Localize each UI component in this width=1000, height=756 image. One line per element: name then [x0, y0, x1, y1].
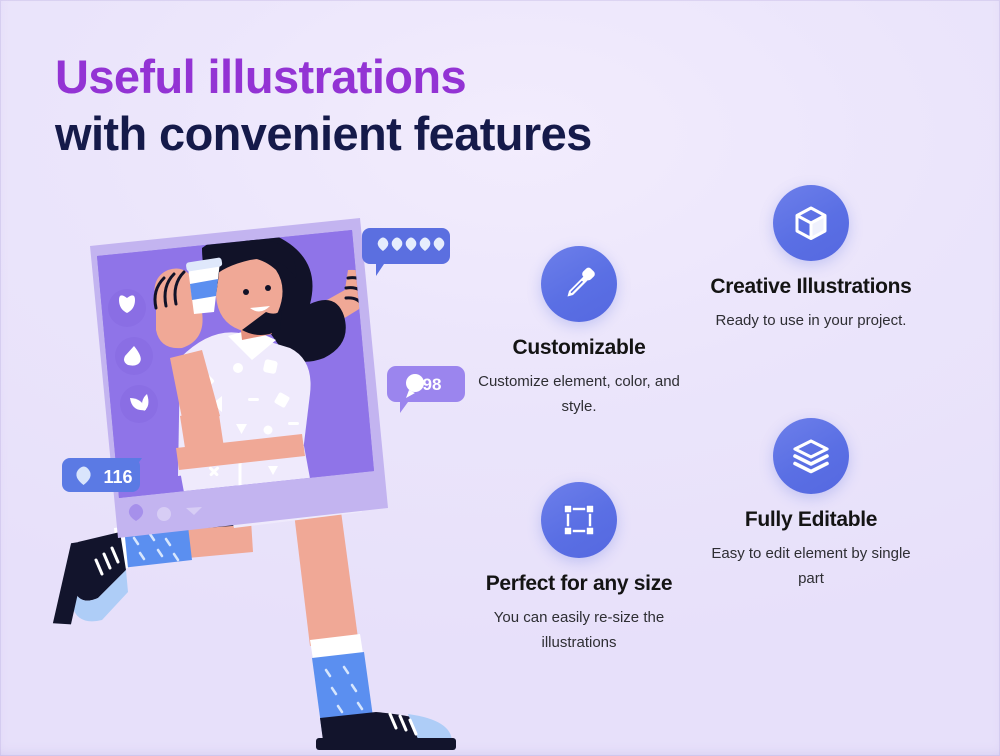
- transform-box-icon: [541, 482, 617, 558]
- hero-illustration: 98 116: [52, 208, 472, 756]
- cube-icon: [773, 185, 849, 261]
- layers-icon: [773, 418, 849, 494]
- feature-description: Ready to use in your project.: [704, 308, 919, 333]
- feature-title: Customizable: [451, 336, 707, 360]
- likes-count: 116: [103, 467, 132, 487]
- feature-perfect-for-any-size[interactable]: Perfect for any size You can easily re-s…: [449, 482, 709, 655]
- hearts-bubble[interactable]: [362, 228, 450, 276]
- feature-fully-editable[interactable]: Fully Editable Easy to edit element by s…: [683, 418, 939, 591]
- feature-creative-illustrations[interactable]: Creative Illustrations Ready to use in y…: [683, 185, 939, 333]
- side-chip-leaf[interactable]: [120, 385, 158, 423]
- feature-title: Perfect for any size: [449, 572, 709, 596]
- feature-description: Easy to edit element by single part: [704, 541, 919, 591]
- feature-description: You can easily re-size the illustrations: [472, 605, 687, 655]
- feature-title: Creative Illustrations: [683, 275, 939, 299]
- poster-canvas: Useful illustrations with convenient fea…: [0, 0, 1000, 756]
- likes-bubble[interactable]: 116: [62, 458, 142, 492]
- feature-customizable[interactable]: Customizable Customize element, color, a…: [451, 246, 707, 419]
- feature-title: Fully Editable: [683, 508, 939, 532]
- side-chip-shield[interactable]: [108, 289, 146, 327]
- comments-count: 98: [423, 375, 442, 394]
- eyedropper-icon: [541, 246, 617, 322]
- headline-line-1: Useful illustrations: [55, 48, 592, 105]
- feature-description: Customize element, color, and style.: [472, 369, 687, 419]
- page-title: Useful illustrations with convenient fea…: [55, 48, 592, 162]
- headline-line-2: with convenient features: [55, 105, 592, 162]
- side-chip-droplet[interactable]: [115, 337, 153, 375]
